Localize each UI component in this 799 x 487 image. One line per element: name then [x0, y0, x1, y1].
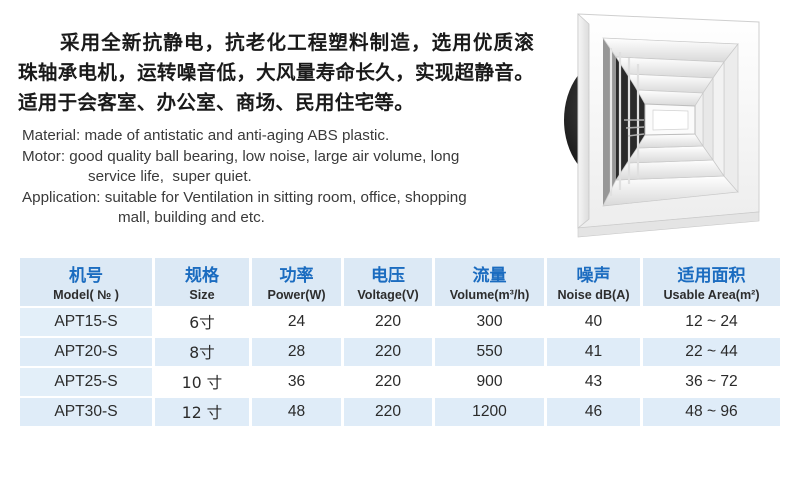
- column-header-model: 机号 Model( № ): [20, 258, 155, 308]
- description-chinese: 采用全新抗静电，抗老化工程塑料制造，选用优质滚珠轴承电机，运转噪音低，大风量寿命…: [0, 28, 548, 118]
- cell-voltage: 220: [344, 308, 435, 338]
- specification-table: 机号 Model( № ) 规格 Size 功率 Power(W) 电压 Vol…: [20, 258, 780, 426]
- column-header-cn: 电压: [344, 262, 432, 287]
- description-english-line: mall, building and etc.: [22, 208, 548, 229]
- cell-voltage: 220: [344, 368, 435, 398]
- description-english-line: Material: made of antistatic and anti-ag…: [22, 126, 548, 147]
- cell-power: 36: [252, 368, 344, 398]
- column-header-usable-area: 适用面积 Usable Area(m²): [643, 258, 780, 308]
- description-english: Material: made of antistatic and anti-ag…: [0, 126, 548, 229]
- cell-noise: 40: [547, 308, 643, 338]
- column-header-cn: 适用面积: [643, 262, 780, 287]
- cell-volume: 1200: [435, 398, 547, 426]
- column-header-en: Voltage(V): [344, 287, 432, 303]
- column-header-voltage: 电压 Voltage(V): [344, 258, 435, 308]
- cell-size: 12 寸: [155, 398, 252, 426]
- column-header-noise: 噪声 Noise dB(A): [547, 258, 643, 308]
- ventilation-fan-illustration: [548, 0, 799, 240]
- table-row: APT30-S 12 寸 48 220 1200 46 48 ~ 96: [20, 398, 780, 426]
- table-header-row: 机号 Model( № ) 规格 Size 功率 Power(W) 电压 Vol…: [20, 258, 780, 308]
- description-english-line: Motor: good quality ball bearing, low no…: [22, 147, 548, 168]
- cell-size: 6寸: [155, 308, 252, 338]
- cell-size: 10 寸: [155, 368, 252, 398]
- column-header-cn: 噪声: [547, 262, 640, 287]
- cell-volume: 900: [435, 368, 547, 398]
- cell-volume: 550: [435, 338, 547, 368]
- cell-area: 12 ~ 24: [643, 308, 780, 338]
- cell-size: 8寸: [155, 338, 252, 368]
- description-english-line: Application: suitable for Ventilation in…: [22, 188, 548, 209]
- cell-volume: 300: [435, 308, 547, 338]
- product-description: 采用全新抗静电，抗老化工程塑料制造，选用优质滚珠轴承电机，运转噪音低，大风量寿命…: [0, 28, 548, 229]
- column-header-volume: 流量 Volume(m³/h): [435, 258, 547, 308]
- table-row: APT20-S 8寸 28 220 550 41 22 ~ 44: [20, 338, 780, 368]
- cell-power: 48: [252, 398, 344, 426]
- column-header-power: 功率 Power(W): [252, 258, 344, 308]
- cell-power: 24: [252, 308, 344, 338]
- cell-model: APT25-S: [20, 368, 155, 398]
- cell-voltage: 220: [344, 338, 435, 368]
- fan-panel-edge: [578, 14, 589, 228]
- cell-area: 36 ~ 72: [643, 368, 780, 398]
- cell-area: 48 ~ 96: [643, 398, 780, 426]
- column-header-en: Size: [155, 287, 249, 303]
- column-header-cn: 机号: [20, 262, 152, 287]
- column-header-en: Power(W): [252, 287, 341, 303]
- cell-model: APT20-S: [20, 338, 155, 368]
- cell-voltage: 220: [344, 398, 435, 426]
- cell-model: APT15-S: [20, 308, 155, 338]
- table-row: APT15-S 6寸 24 220 300 40 12 ~ 24: [20, 308, 780, 338]
- cell-noise: 41: [547, 338, 643, 368]
- column-header-en: Volume(m³/h): [435, 287, 544, 303]
- column-header-cn: 流量: [435, 262, 544, 287]
- cell-area: 22 ~ 44: [643, 338, 780, 368]
- column-header-cn: 功率: [252, 262, 341, 287]
- cell-model: APT30-S: [20, 398, 155, 426]
- column-header-en: Noise dB(A): [547, 287, 640, 303]
- product-photo: [548, 0, 799, 240]
- cell-noise: 46: [547, 398, 643, 426]
- column-header-en: Usable Area(m²): [643, 287, 780, 303]
- table-row: APT25-S 10 寸 36 220 900 43 36 ~ 72: [20, 368, 780, 398]
- description-english-line: service life, super quiet.: [22, 167, 548, 188]
- column-header-size: 规格 Size: [155, 258, 252, 308]
- cell-power: 28: [252, 338, 344, 368]
- column-header-cn: 规格: [155, 262, 249, 287]
- column-header-en: Model( № ): [20, 287, 152, 303]
- cell-noise: 43: [547, 368, 643, 398]
